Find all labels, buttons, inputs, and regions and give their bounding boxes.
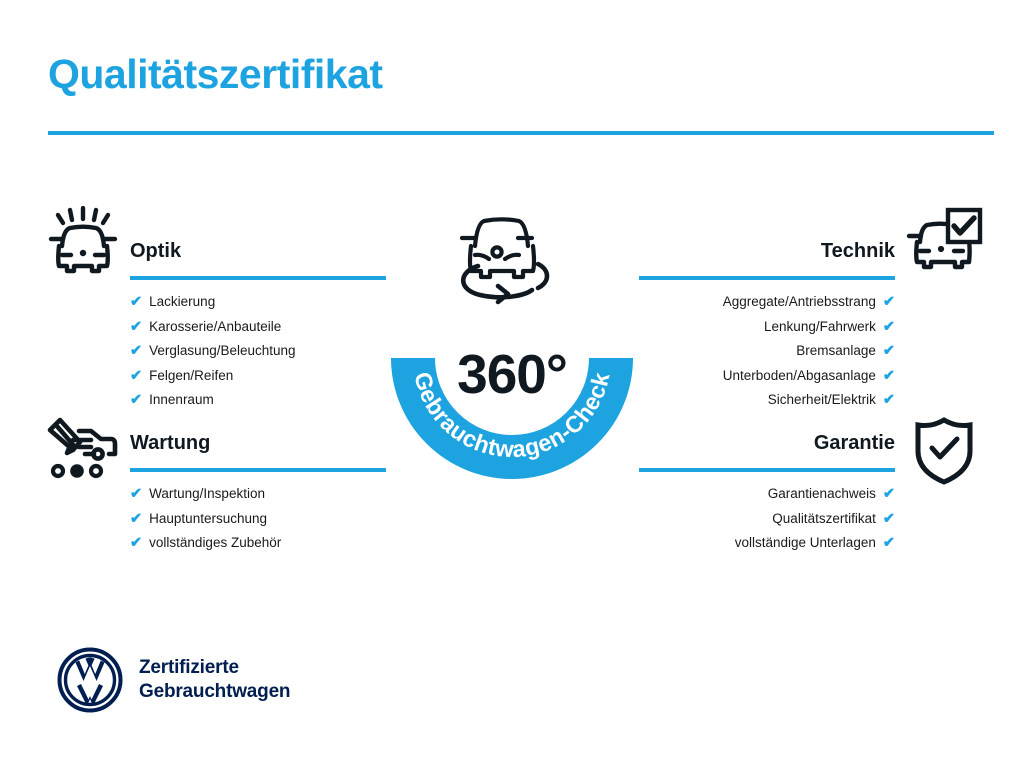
list-item: ✔Innenraum [130, 388, 386, 413]
list-item: Unterboden/Abgasanlage✔ [639, 364, 895, 389]
check-icon: ✔ [883, 532, 895, 556]
vw-wordmark-line2: Gebrauchtwagen [139, 680, 290, 704]
list-item: ✔Hauptuntersuchung [130, 507, 386, 532]
badge-360-gebrauchtwagen-check: Gebrauchtwagen-Check 360° [376, 192, 648, 504]
list-item-label: Unterboden/Abgasanlage [723, 368, 876, 383]
section-garantie-list: Garantienachweis✔ Qualitätszertifikat✔ v… [639, 472, 895, 556]
vw-wordmark: Zertifizierte Gebrauchtwagen [139, 656, 290, 704]
check-icon: ✔ [883, 340, 895, 364]
badge-value: 360° [376, 342, 648, 406]
list-item: Qualitätszertifikat✔ [639, 507, 895, 532]
list-item-label: Felgen/Reifen [149, 368, 233, 383]
section-wartung-divider [130, 468, 386, 472]
check-icon: ✔ [130, 532, 142, 556]
list-item-label: Wartung/Inspektion [149, 486, 265, 501]
section-garantie: Garantie Garantienachweis✔ Qualitätszert… [639, 430, 895, 556]
list-item-label: Hauptuntersuchung [149, 511, 267, 526]
vw-brand-lockup: Zertifizierte Gebrauchtwagen [56, 646, 290, 714]
section-optik-list: ✔Lackierung ✔Karosserie/Anbauteile ✔Verg… [130, 280, 386, 413]
list-item-label: Karosserie/Anbauteile [149, 319, 281, 334]
check-icon: ✔ [130, 508, 142, 532]
section-optik-header: Optik [130, 238, 386, 280]
section-optik-title: Optik [130, 238, 386, 264]
list-item: Aggregate/Antriebsstrang✔ [639, 290, 895, 315]
check-icon: ✔ [130, 340, 142, 364]
check-icon: ✔ [883, 365, 895, 389]
list-item: Bremsanlage✔ [639, 339, 895, 364]
list-item-label: Sicherheit/Elektrik [768, 392, 876, 407]
list-item-label: Lackierung [149, 294, 215, 309]
section-optik-divider [130, 276, 386, 280]
vw-logo [56, 646, 124, 714]
list-item: ✔Verglasung/Beleuchtung [130, 339, 386, 364]
list-item: ✔Felgen/Reifen [130, 364, 386, 389]
list-item: ✔Wartung/Inspektion [130, 482, 386, 507]
list-item: ✔Karosserie/Anbauteile [130, 315, 386, 340]
section-technik-header: Technik [639, 238, 895, 280]
check-icon: ✔ [130, 483, 142, 507]
check-icon: ✔ [130, 316, 142, 340]
list-item-label: Verglasung/Beleuchtung [149, 343, 295, 358]
page-title: Qualitätszertifikat [48, 52, 383, 97]
section-technik: Technik Aggregate/Antriebsstrang✔ Lenkun… [639, 238, 895, 413]
car-checkbox-icon [906, 206, 984, 283]
section-wartung-header: Wartung [130, 430, 386, 472]
shield-check-icon [912, 416, 976, 491]
section-technik-title: Technik [639, 238, 895, 264]
section-wartung: Wartung ✔Wartung/Inspektion ✔Hauptunters… [130, 430, 386, 556]
section-garantie-header: Garantie [639, 430, 895, 472]
section-technik-list: Aggregate/Antriebsstrang✔ Lenkung/Fahrwe… [639, 280, 895, 413]
section-garantie-title: Garantie [639, 430, 895, 456]
list-item: Garantienachweis✔ [639, 482, 895, 507]
list-item: Lenkung/Fahrwerk✔ [639, 315, 895, 340]
car-rotate-icon [462, 219, 547, 302]
list-item: vollständige Unterlagen✔ [639, 531, 895, 556]
list-item: Sicherheit/Elektrik✔ [639, 388, 895, 413]
title-divider [48, 131, 994, 135]
section-optik: Optik ✔Lackierung ✔Karosserie/Anbauteile… [130, 238, 386, 413]
check-icon: ✔ [883, 291, 895, 315]
check-icon: ✔ [130, 389, 142, 413]
check-icon: ✔ [883, 389, 895, 413]
check-icon: ✔ [883, 483, 895, 507]
section-wartung-title: Wartung [130, 430, 386, 456]
list-item-label: vollständiges Zubehör [149, 535, 281, 550]
list-item: ✔vollständiges Zubehör [130, 531, 386, 556]
list-item-label: Innenraum [149, 392, 214, 407]
list-item-label: Qualitätszertifikat [772, 511, 876, 526]
list-item-label: Lenkung/Fahrwerk [764, 319, 876, 334]
check-icon: ✔ [883, 316, 895, 340]
list-item-label: vollständige Unterlagen [735, 535, 876, 550]
car-shine-icon [46, 206, 120, 285]
section-technik-divider [639, 276, 895, 280]
vw-wordmark-line1: Zertifizierte [139, 656, 290, 680]
check-icon: ✔ [130, 291, 142, 315]
list-item-label: Garantienachweis [768, 486, 876, 501]
list-item-label: Bremsanlage [796, 343, 876, 358]
list-item: ✔Lackierung [130, 290, 386, 315]
check-icon: ✔ [130, 365, 142, 389]
car-service-pencil-icon [46, 416, 120, 489]
list-item-label: Aggregate/Antriebsstrang [723, 294, 876, 309]
section-wartung-list: ✔Wartung/Inspektion ✔Hauptuntersuchung ✔… [130, 472, 386, 556]
check-icon: ✔ [883, 508, 895, 532]
section-garantie-divider [639, 468, 895, 472]
